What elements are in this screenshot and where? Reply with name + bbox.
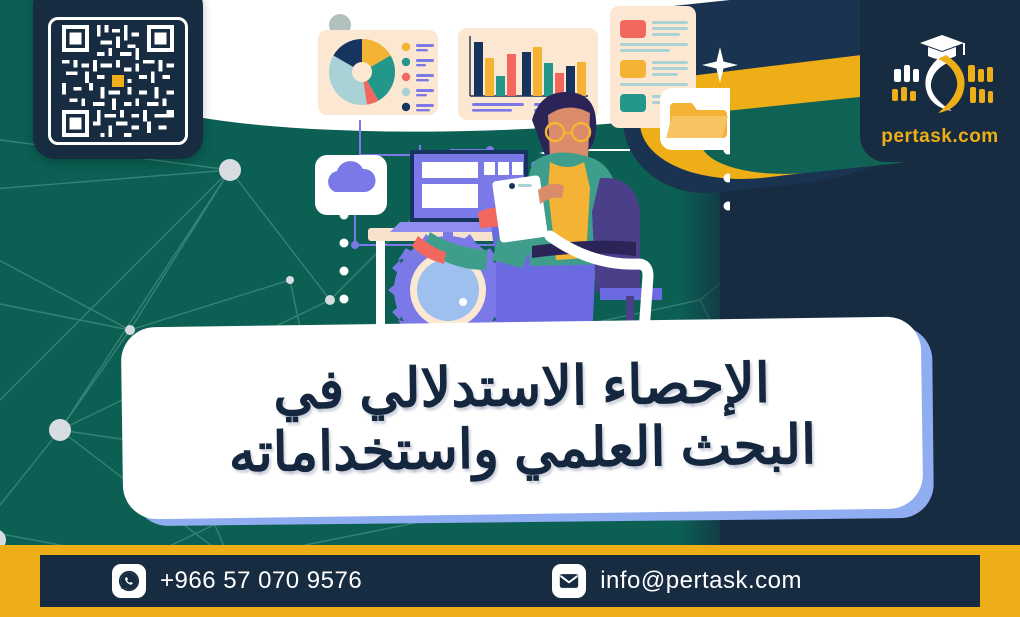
brand-logo-card[interactable]: pertask.com [860, 0, 1020, 162]
phone-number: +966 57 070 9576 [160, 567, 362, 595]
qr-code-frame [48, 17, 188, 145]
title-card: الإحصاء الاستدلالي في البحث العلمي واستخ… [121, 316, 924, 519]
footer-bar: +966 57 070 9576 info@pertask.com [0, 545, 1020, 617]
qr-code-icon [56, 25, 180, 137]
whatsapp-icon [112, 564, 146, 598]
contact-phone[interactable]: +966 57 070 9576 [112, 564, 362, 598]
contact-email[interactable]: info@pertask.com [552, 564, 802, 598]
title-line-1: الإحصاء الاستدلالي في [273, 353, 770, 420]
poster-canvas: pertask.com الإحصاء الاستدلالي في البحث … [0, 0, 1020, 617]
analyst-at-desk-illustration [300, 0, 730, 345]
qr-code-card[interactable] [33, 0, 203, 159]
footer-contact-strip: +966 57 070 9576 info@pertask.com [40, 555, 980, 607]
brand-mark-icon [880, 29, 1000, 125]
brand-url: pertask.com [881, 126, 998, 148]
email-address: info@pertask.com [600, 567, 802, 595]
title-line-2: البحث العلمي واستخداماته [228, 415, 816, 484]
mail-icon [552, 564, 586, 598]
